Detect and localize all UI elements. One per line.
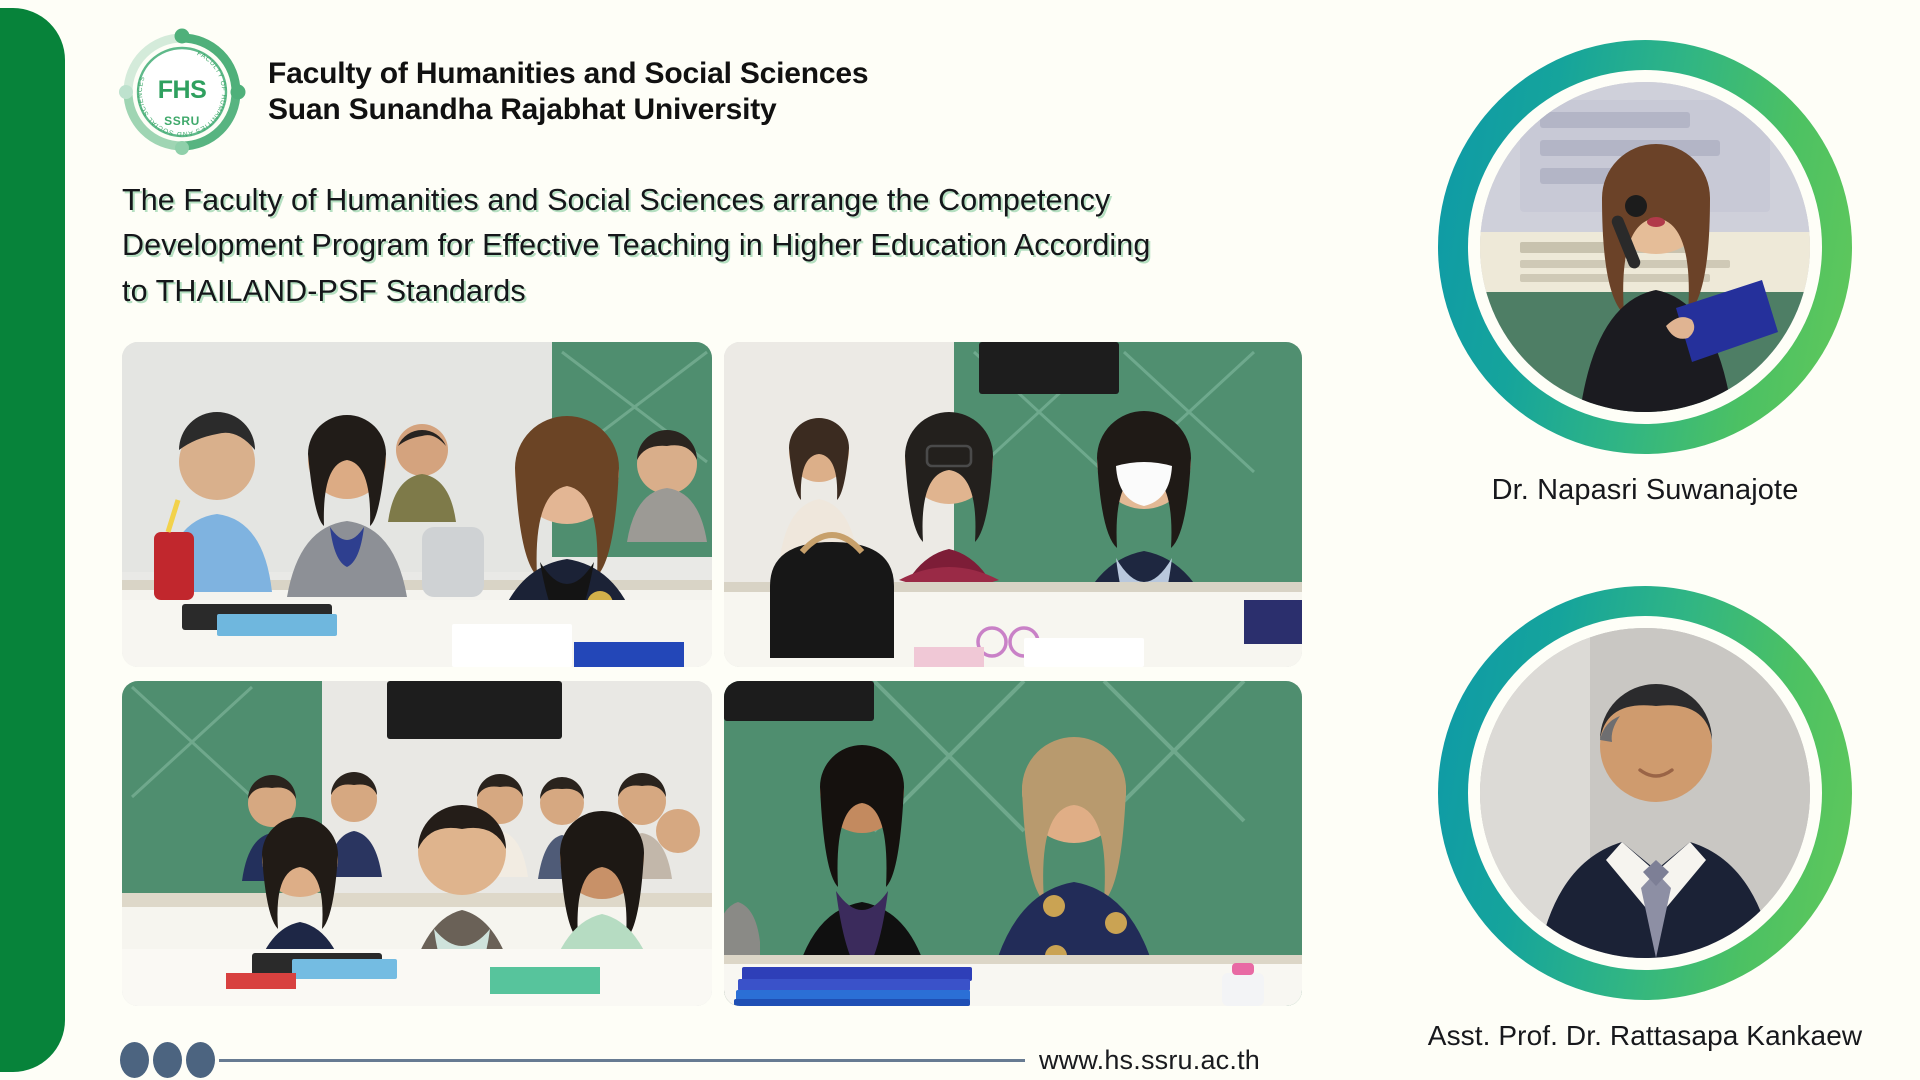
photo-bottom-right — [724, 681, 1302, 1006]
footer-divider-line — [219, 1059, 1025, 1062]
fhs-logo-icon: FACULTY OF HUMANITIES AND SOCIAL SCIENCE… — [118, 28, 246, 156]
footer-dot-1 — [120, 1042, 149, 1078]
portrait-ring-gap-2 — [1468, 616, 1822, 970]
left-green-accent-bar — [0, 8, 65, 1072]
footer-dot-3 — [186, 1042, 215, 1078]
portrait-image-napasri — [1480, 82, 1810, 412]
poster-canvas: FACULTY OF HUMANITIES AND SOCIAL SCIENCE… — [0, 0, 1920, 1080]
headline-line-3: to THAILAND-PSF Standards — [122, 269, 1302, 314]
photo-gallery — [122, 342, 1302, 1014]
page-title: The Faculty of Humanities and Social Sci… — [122, 178, 1302, 314]
website-url[interactable]: www.hs.ssru.ac.th — [1039, 1045, 1260, 1076]
brand-line-1: Faculty of Humanities and Social Science… — [268, 56, 868, 92]
headline-line-1: The Faculty of Humanities and Social Sci… — [122, 178, 1302, 223]
portrait-ring-1 — [1438, 40, 1852, 454]
footer: www.hs.ssru.ac.th — [120, 1042, 1260, 1078]
photo-top-right — [724, 342, 1302, 667]
photo-top-left — [122, 342, 712, 667]
header: FACULTY OF HUMANITIES AND SOCIAL SCIENCE… — [118, 28, 868, 156]
portrait-name-napasri: Dr. Napasri Suwanajote — [1438, 474, 1852, 507]
portrait-ring-2 — [1438, 586, 1852, 1000]
photo-bottom-left — [122, 681, 712, 1006]
portrait-ring-gap-1 — [1468, 70, 1822, 424]
portrait-napasri: Dr. Napasri Suwanajote — [1438, 40, 1852, 507]
brand-line-2: Suan Sunandha Rajabhat University — [268, 92, 868, 128]
portrait-image-rattasapa — [1480, 628, 1810, 958]
portrait-name-rattasapa: Asst. Prof. Dr. Rattasapa Kankaew — [1414, 1020, 1876, 1052]
headline-line-2: Development Program for Effective Teachi… — [122, 223, 1302, 268]
portrait-rattasapa: Asst. Prof. Dr. Rattasapa Kankaew — [1438, 586, 1876, 1052]
svg-text:FHS: FHS — [158, 76, 207, 104]
brand-title: Faculty of Humanities and Social Science… — [268, 56, 868, 127]
footer-dot-2 — [153, 1042, 182, 1078]
svg-text:SSRU: SSRU — [164, 114, 200, 128]
